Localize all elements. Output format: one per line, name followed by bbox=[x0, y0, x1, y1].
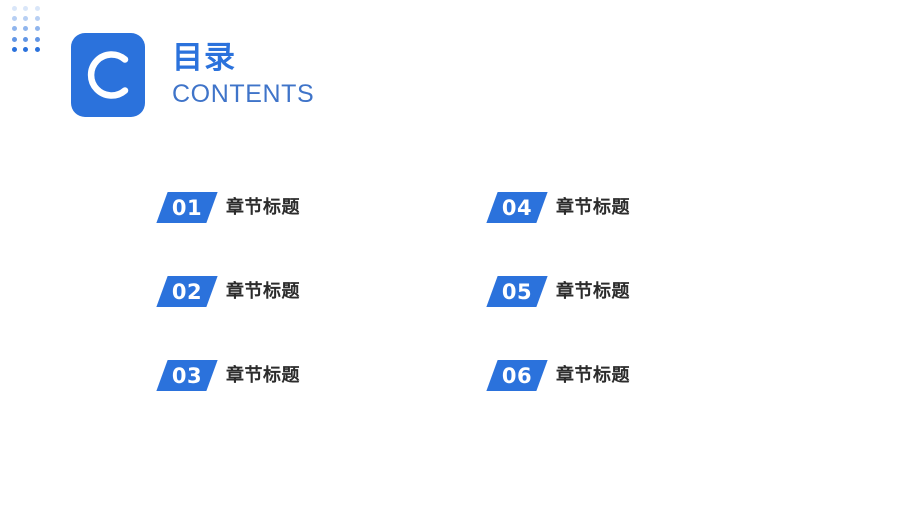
dot-icon bbox=[35, 37, 40, 42]
section-title-label: 章节标题 bbox=[226, 192, 300, 223]
dot-cell bbox=[20, 34, 31, 44]
section-title-label: 章节标题 bbox=[556, 192, 630, 223]
dot-cell bbox=[9, 3, 20, 13]
contents-item-04[interactable]: 04 章节标题 bbox=[492, 192, 822, 224]
section-title-label: 章节标题 bbox=[226, 360, 300, 391]
dot-cell bbox=[20, 13, 31, 23]
dot-cell bbox=[9, 34, 20, 44]
dot-icon bbox=[23, 6, 28, 11]
number-label: 04 bbox=[492, 192, 542, 223]
dot-cell bbox=[20, 3, 31, 13]
dot-icon bbox=[23, 47, 28, 52]
dot-icon bbox=[35, 6, 40, 11]
slide-header: 目录 CONTENTS bbox=[71, 33, 314, 117]
contents-item-03[interactable]: 03 章节标题 bbox=[162, 360, 492, 392]
dot-icon bbox=[35, 26, 40, 31]
dot-icon bbox=[23, 26, 28, 31]
dot-cell bbox=[20, 24, 31, 34]
contents-item-05[interactable]: 05 章节标题 bbox=[492, 276, 822, 308]
dot-icon bbox=[12, 6, 17, 11]
title-block: 目录 CONTENTS bbox=[172, 40, 314, 110]
dot-cell bbox=[32, 34, 43, 44]
section-title-label: 章节标题 bbox=[226, 276, 300, 307]
dot-cell bbox=[32, 24, 43, 34]
dot-icon bbox=[12, 16, 17, 21]
number-badge: 05 bbox=[492, 276, 542, 307]
dot-cell bbox=[20, 45, 31, 55]
number-label: 03 bbox=[162, 360, 212, 391]
number-label: 06 bbox=[492, 360, 542, 391]
page-title: 目录 bbox=[172, 40, 314, 77]
dot-cell bbox=[32, 45, 43, 55]
number-label: 02 bbox=[162, 276, 212, 307]
contents-item-01[interactable]: 01 章节标题 bbox=[162, 192, 492, 224]
dot-cell bbox=[9, 13, 20, 23]
letter-c-logo bbox=[71, 33, 145, 117]
number-label: 05 bbox=[492, 276, 542, 307]
dot-icon bbox=[23, 16, 28, 21]
dot-grid-decoration bbox=[9, 3, 43, 55]
number-badge: 03 bbox=[162, 360, 212, 391]
dot-icon bbox=[12, 47, 17, 52]
number-badge: 06 bbox=[492, 360, 542, 391]
contents-list: 01 章节标题 04 章节标题 02 章节标题 05 章节标题 03 章节标题 bbox=[162, 192, 782, 444]
number-badge: 02 bbox=[162, 276, 212, 307]
dot-cell bbox=[32, 3, 43, 13]
section-title-label: 章节标题 bbox=[556, 360, 630, 391]
number-badge: 01 bbox=[162, 192, 212, 223]
dot-icon bbox=[23, 37, 28, 42]
dot-icon bbox=[12, 37, 17, 42]
contents-item-06[interactable]: 06 章节标题 bbox=[492, 360, 822, 392]
page-subtitle: CONTENTS bbox=[172, 79, 314, 110]
number-label: 01 bbox=[162, 192, 212, 223]
dot-icon bbox=[12, 26, 17, 31]
section-title-label: 章节标题 bbox=[556, 276, 630, 307]
dot-cell bbox=[9, 45, 20, 55]
dot-icon bbox=[35, 16, 40, 21]
contents-item-02[interactable]: 02 章节标题 bbox=[162, 276, 492, 308]
dot-icon bbox=[35, 47, 40, 52]
number-badge: 04 bbox=[492, 192, 542, 223]
dot-cell bbox=[32, 13, 43, 23]
dot-cell bbox=[9, 24, 20, 34]
